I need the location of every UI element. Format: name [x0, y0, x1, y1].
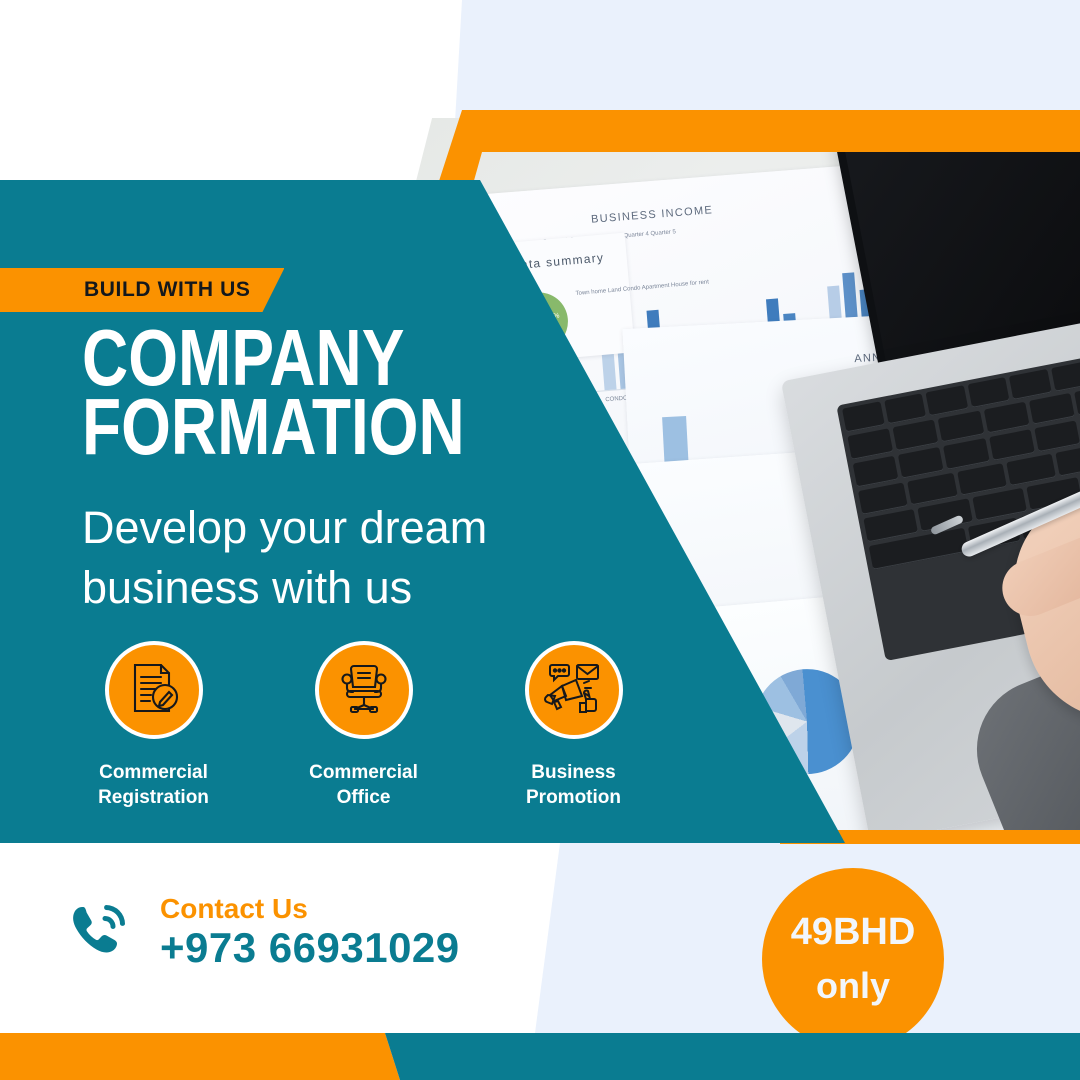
subheading-line-1: Develop your dream [82, 498, 602, 558]
feature-label-line-1: Commercial [309, 761, 418, 786]
feature-label-line-1: Business [526, 761, 621, 786]
eyebrow-banner: BUILD WITH US [0, 268, 284, 312]
feature-commercial-registration[interactable]: Commercial Registration [82, 641, 225, 810]
feature-icon-circle [315, 641, 413, 739]
document-pen-icon [125, 659, 183, 722]
contact-phone-number[interactable]: +973 66931029 [160, 925, 460, 971]
price-badge: 49BHD only [762, 868, 944, 1050]
feature-icon-circle [525, 641, 623, 739]
contact-block[interactable]: Contact Us +973 66931029 [62, 893, 460, 972]
feature-label-line-1: Commercial [98, 761, 209, 786]
feature-label-line-2: Office [309, 786, 418, 811]
subheading-line-2: business with us [82, 558, 602, 618]
eyebrow-label: BUILD WITH US [84, 278, 250, 302]
contact-text: Contact Us +973 66931029 [160, 894, 460, 971]
feature-commercial-office[interactable]: Commercial Office [292, 641, 435, 810]
feature-business-promotion[interactable]: Business Promotion [502, 641, 645, 810]
poster-canvas: BUSINESS INCOME Quarter 1 Quarter 2 Quar… [0, 0, 1080, 1080]
feature-label-line-2: Promotion [526, 786, 621, 811]
contact-label: Contact Us [160, 894, 460, 925]
feature-icon-circle [105, 641, 203, 739]
feature-label-line-2: Registration [98, 786, 209, 811]
phone-ringing-icon [62, 893, 136, 972]
feature-list: Commercial Registration [82, 641, 645, 810]
feature-label: Business Promotion [526, 761, 621, 810]
megaphone-promotion-icon [544, 659, 604, 722]
feature-label: Commercial Office [309, 761, 418, 810]
headline-line-2: FORMATION [82, 393, 498, 462]
price-qualifier: only [816, 966, 890, 1006]
feature-label: Commercial Registration [98, 761, 209, 810]
page-title: COMPANY FORMATION [82, 324, 498, 462]
subheading: Develop your dream business with us [82, 498, 602, 618]
office-chair-icon [335, 659, 393, 722]
price-amount: 49BHD [791, 912, 916, 954]
photo-doc-title-business-income: BUSINESS INCOME [591, 204, 714, 226]
